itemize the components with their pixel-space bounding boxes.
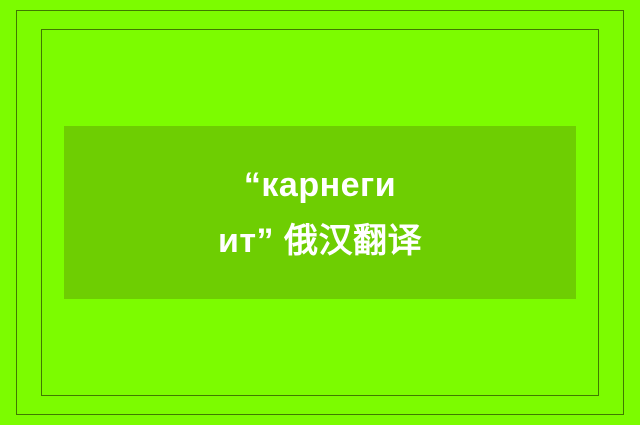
title-line-1: “карнеги: [244, 157, 396, 213]
title-line-2: ит” 俄汉翻译: [218, 213, 422, 269]
poster-canvas: “карнеги ит” 俄汉翻译: [0, 0, 640, 425]
title-card-panel: “карнеги ит” 俄汉翻译: [64, 126, 576, 299]
